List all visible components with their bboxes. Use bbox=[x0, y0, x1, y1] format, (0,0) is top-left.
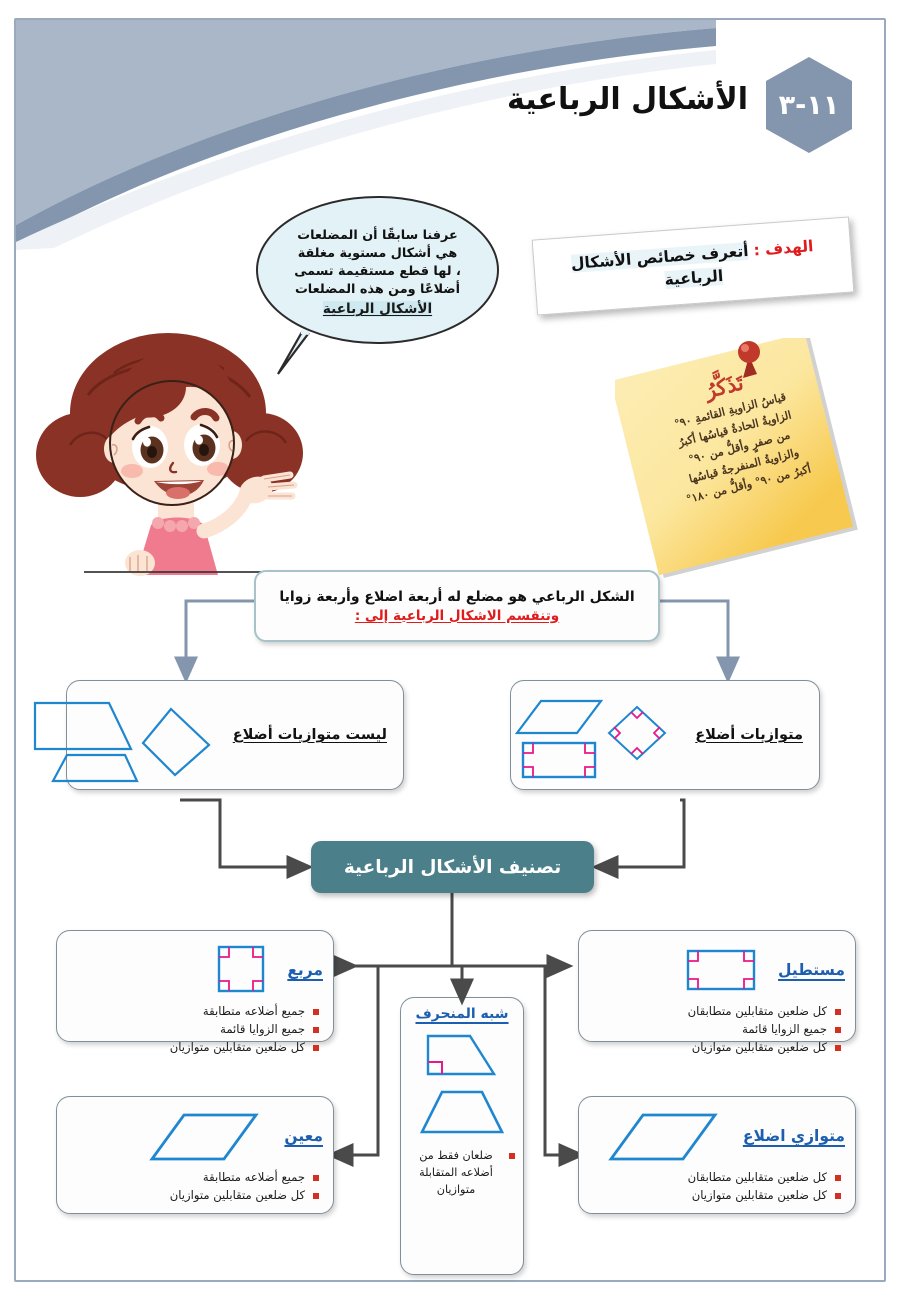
goal-label: الهدف : bbox=[753, 237, 814, 259]
shape-card-rectangle: مستطيل كل ضلعين متقابلين متطابقان جميع ا… bbox=[578, 930, 856, 1042]
list-item: كل ضلعين متقابلين متوازيان bbox=[589, 1039, 841, 1057]
shape-title-square: مربع bbox=[287, 961, 323, 979]
shape-card-rhombus: معين جميع أضلاعه متطابقة كل ضلعين متقابل… bbox=[56, 1096, 334, 1214]
bullet-icon bbox=[313, 1045, 319, 1051]
bullet-icon bbox=[313, 1193, 319, 1199]
list-item: كل ضلعين متقابلين متوازيان bbox=[589, 1187, 841, 1205]
list-item: كل ضلعين متقابلين متطابقان bbox=[589, 1003, 841, 1021]
definition-line-2: وتنقسم الاشكال الرباعية إلى : bbox=[355, 608, 559, 624]
list-item: كل ضلعين متقابلين متوازيان bbox=[67, 1039, 319, 1057]
list-item: كل ضلعين متقابلين متوازيان bbox=[67, 1187, 319, 1205]
shape-card-trapezoid: شبه المنحرف ضلعان فقط من أضلاعه المتقابل… bbox=[400, 997, 524, 1275]
shape-card-square: مربع جميع أضلاعه متطابقة جميع الزوايا قا… bbox=[56, 930, 334, 1042]
category-label-parallelograms: متوازيات أضلاع bbox=[695, 727, 803, 743]
bullet-icon bbox=[509, 1153, 515, 1159]
trapezoid-properties-list: ضلعان فقط من أضلاعه المتقابلة متوازيان bbox=[409, 1148, 515, 1198]
goal-text: أتعرف خصائص الأشكال الرباعية bbox=[570, 241, 749, 289]
bullet-icon bbox=[835, 1027, 841, 1033]
remember-sticky-note: تَذَكَّرُ قياسُ الزاويةِ القائمةِ ٩٠° ال… bbox=[615, 338, 865, 578]
quadrilateral-definition-box: الشكل الرباعي هو مضلع له أربعة اضلاع وأر… bbox=[254, 570, 660, 642]
bullet-icon bbox=[835, 1009, 841, 1015]
parallelogram-figure bbox=[589, 1107, 733, 1165]
rectangle-properties-list: كل ضلعين متقابلين متطابقان جميع الزوايا … bbox=[589, 1003, 845, 1057]
category-not-parallelograms: ليست متوازيات أضلاع bbox=[66, 680, 404, 790]
bullet-icon bbox=[313, 1175, 319, 1181]
classification-banner: تصنيف الأشكال الرباعية bbox=[311, 841, 594, 893]
shape-card-parallelogram: متوازي اضلاع كل ضلعين متقابلين متطابقان … bbox=[578, 1096, 856, 1214]
list-item: جميع أضلاعه متطابقة bbox=[67, 1169, 319, 1187]
not-parallelogram-figures bbox=[23, 687, 233, 783]
bullet-icon bbox=[835, 1175, 841, 1181]
worksheet-page: ١١-٣ الأشكال الرباعية bbox=[0, 0, 900, 1300]
parallelogram-figures bbox=[515, 687, 695, 783]
bullet-icon bbox=[313, 1027, 319, 1033]
shape-title-parallelogram: متوازي اضلاع bbox=[743, 1127, 845, 1145]
lesson-number-text: ١١-٣ bbox=[763, 55, 855, 155]
trapezoid-figures bbox=[416, 1030, 508, 1140]
lesson-number-badge: ١١-٣ bbox=[763, 55, 855, 155]
list-item: جميع الزوايا قائمة bbox=[589, 1021, 841, 1039]
category-parallelograms: متوازيات أضلاع bbox=[510, 680, 820, 790]
bubble-line-3: ، لها قطع مستقيمة تسمى bbox=[294, 263, 461, 281]
square-properties-list: جميع أضلاعه متطابقة جميع الزوايا قائمة ك… bbox=[67, 1003, 323, 1057]
bubble-highlight-term: الأشكال الرباعية bbox=[323, 301, 432, 317]
speech-bubble: عرفنا سابقًا أن المضلعات هي أشكال مستوية… bbox=[256, 196, 499, 344]
list-item: جميع الزوايا قائمة bbox=[67, 1021, 319, 1039]
bullet-icon bbox=[835, 1045, 841, 1051]
bubble-line-2: هي أشكال مستوية مغلقة bbox=[298, 245, 458, 263]
rectangle-figure bbox=[589, 941, 768, 999]
bubble-line-1: عرفنا سابقًا أن المضلعات bbox=[297, 227, 458, 245]
rhombus-figure bbox=[67, 1107, 274, 1165]
speech-bubble-tail bbox=[272, 330, 312, 376]
shape-title-rhombus: معين bbox=[284, 1127, 323, 1145]
category-label-not-parallelograms: ليست متوازيات أضلاع bbox=[233, 727, 387, 743]
bullet-icon bbox=[313, 1009, 319, 1015]
page-title: الأشكال الرباعية bbox=[507, 82, 748, 117]
list-item: كل ضلعين متقابلين متطابقان bbox=[589, 1169, 841, 1187]
rhombus-properties-list: جميع أضلاعه متطابقة كل ضلعين متقابلين مت… bbox=[67, 1169, 323, 1205]
parallelogram-properties-list: كل ضلعين متقابلين متطابقان كل ضلعين متقا… bbox=[589, 1169, 845, 1205]
list-item: ضلعان فقط من أضلاعه المتقابلة متوازيان bbox=[409, 1148, 515, 1198]
square-figure bbox=[67, 941, 277, 999]
list-item: جميع أضلاعه متطابقة bbox=[67, 1003, 319, 1021]
definition-line-1: الشكل الرباعي هو مضلع له أربعة اضلاع وأر… bbox=[279, 589, 634, 605]
bullet-icon bbox=[835, 1193, 841, 1199]
bubble-line-4: أضلاعًا ومن هذه المضلعات bbox=[295, 281, 460, 299]
shape-title-rectangle: مستطيل bbox=[778, 961, 845, 979]
shape-title-trapezoid: شبه المنحرف bbox=[415, 1006, 508, 1022]
